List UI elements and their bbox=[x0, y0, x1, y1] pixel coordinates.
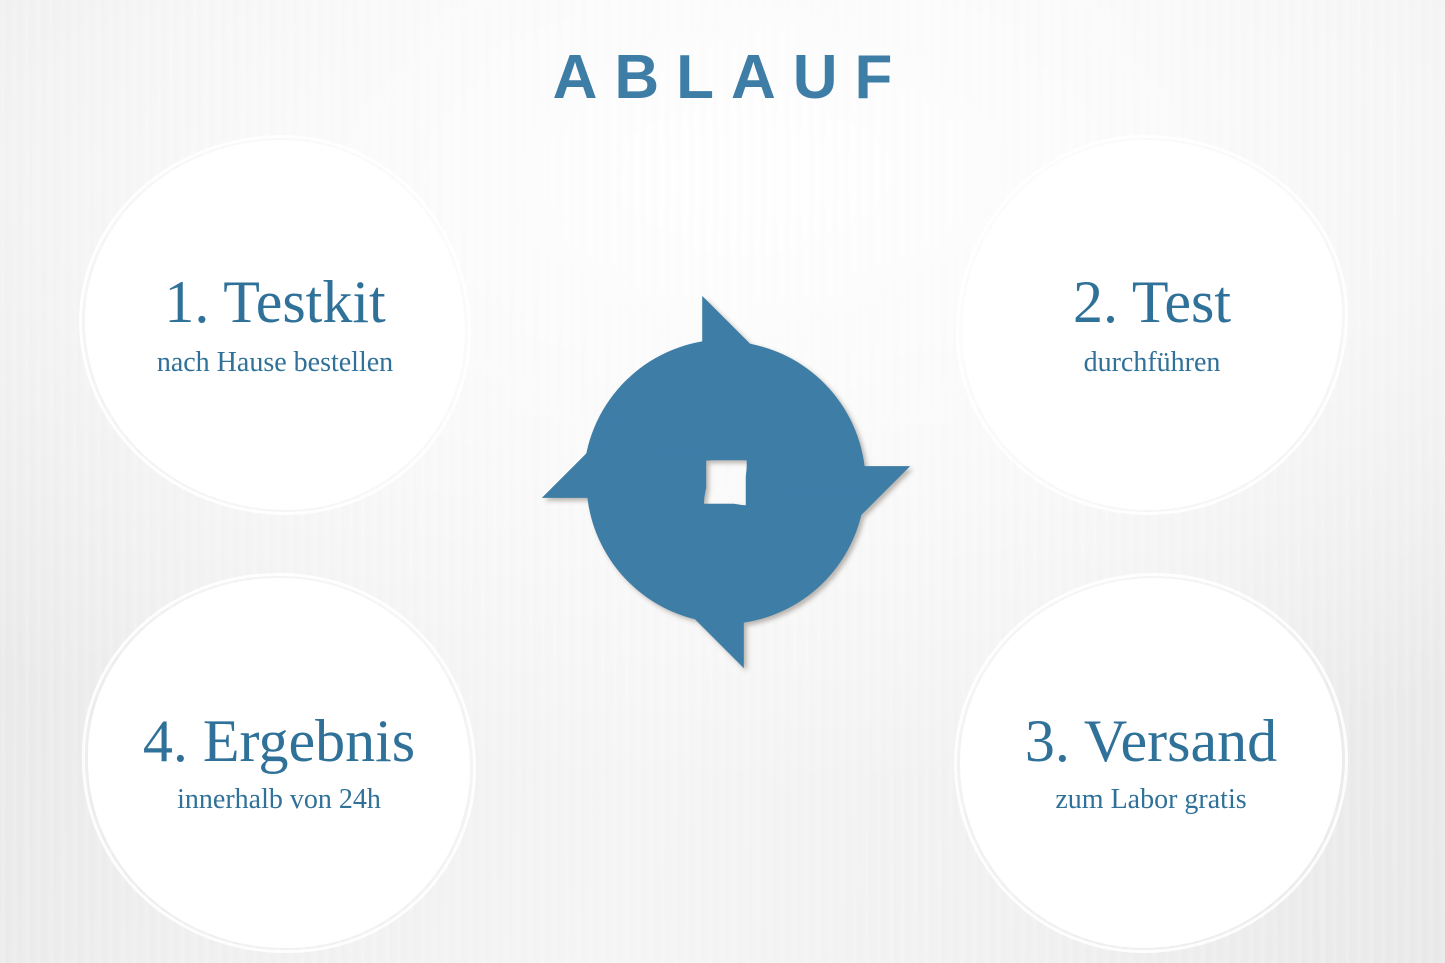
cycle-arrow-segments bbox=[542, 296, 910, 668]
step-bubble-4-ergebnis[interactable]: 4. Ergebnis innerhalb von 24h bbox=[88, 578, 470, 948]
step-1-title: 1. Testkit bbox=[164, 272, 385, 332]
step-2-subtitle: durchführen bbox=[1084, 348, 1221, 379]
step-4-title: 4. Ergebnis bbox=[143, 711, 415, 771]
step-bubble-2-test[interactable]: 2. Test durchführen bbox=[962, 140, 1342, 510]
step-2-title: 2. Test bbox=[1073, 272, 1231, 332]
page-title: ABLAUF bbox=[0, 47, 1445, 109]
ablauf-infographic: ABLAUF 1. Testkit nach Hause bestellen 2… bbox=[0, 0, 1445, 963]
step-1-subtitle: nach Hause bestellen bbox=[157, 348, 393, 379]
step-bubble-1-testkit[interactable]: 1. Testkit nach Hause bestellen bbox=[85, 140, 465, 510]
step-bubble-3-versand[interactable]: 3. Versand zum Labor gratis bbox=[960, 578, 1342, 948]
step-3-subtitle: zum Labor gratis bbox=[1055, 785, 1246, 816]
step-4-subtitle: innerhalb von 24h bbox=[177, 785, 381, 816]
cycle-arrows-icon bbox=[528, 280, 924, 684]
step-3-title: 3. Versand bbox=[1025, 711, 1277, 771]
